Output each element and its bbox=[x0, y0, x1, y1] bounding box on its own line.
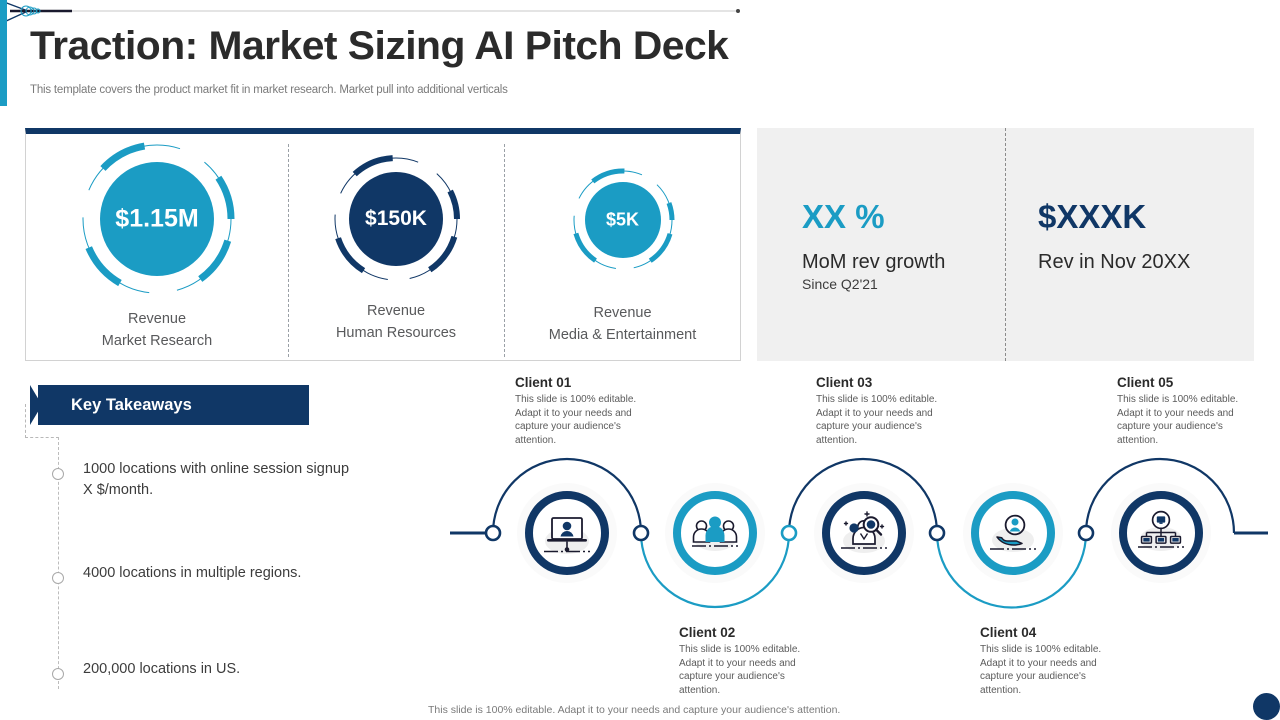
revenue-donut-1: $150K bbox=[329, 152, 463, 286]
client-timeline: Client 01 This slide is 100% editable. A… bbox=[0, 365, 1280, 705]
page-subtitle: This template covers the product market … bbox=[30, 84, 508, 96]
revenue-value-0: $1.15M bbox=[115, 205, 198, 234]
client-body-2: This slide is 100% editable. Adapt it to… bbox=[816, 393, 941, 447]
client-title-3: Client 04 bbox=[980, 625, 1036, 640]
revenue-donut-0: $1.15M bbox=[77, 139, 237, 299]
metric-label-0: MoM rev growth bbox=[802, 251, 945, 274]
metric-value-0: XX % bbox=[802, 198, 945, 236]
revenue-caption-2: Revenue Media & Entertainment bbox=[549, 303, 697, 347]
client-body-3: This slide is 100% editable. Adapt it to… bbox=[980, 643, 1105, 697]
user-search-icon bbox=[836, 508, 892, 558]
people-group-icon bbox=[687, 508, 743, 558]
client-ring-0 bbox=[525, 491, 609, 575]
corner-dot bbox=[1253, 693, 1280, 720]
revenue-item-1: $150K Revenue Human Resources bbox=[288, 134, 504, 360]
revenue-value-2: $5K bbox=[606, 210, 639, 231]
metrics-divider bbox=[1005, 128, 1006, 361]
footer-note: This slide is 100% editable. Adapt it to… bbox=[428, 704, 840, 716]
client-body-1: This slide is 100% editable. Adapt it to… bbox=[679, 643, 804, 697]
metric-1: $XXXK Rev in Nov 20XX bbox=[1038, 198, 1190, 276]
metric-label-1: Rev in Nov 20XX bbox=[1038, 251, 1190, 274]
client-title-1: Client 02 bbox=[679, 625, 735, 640]
client-ring-3 bbox=[971, 491, 1055, 575]
client-body-4: This slide is 100% editable. Adapt it to… bbox=[1117, 393, 1242, 447]
accent-bar bbox=[0, 0, 7, 106]
metric-sublabel-0: Since Q2'21 bbox=[802, 276, 945, 292]
revenue-item-0: $1.15M Revenue Market Research bbox=[26, 134, 288, 360]
revenue-caption-1: Revenue Human Resources bbox=[336, 301, 456, 345]
top-decoration bbox=[0, 0, 1280, 24]
client-ring-1 bbox=[673, 491, 757, 575]
client-title-0: Client 01 bbox=[515, 375, 571, 390]
metric-value-1: $XXXK bbox=[1038, 198, 1190, 236]
page-title: Traction: Market Sizing AI Pitch Deck bbox=[30, 24, 728, 69]
client-title-4: Client 05 bbox=[1117, 375, 1173, 390]
client-ring-2 bbox=[822, 491, 906, 575]
revenue-caption-0: Revenue Market Research bbox=[102, 309, 212, 353]
metrics-panel: XX % MoM rev growth Since Q2'21 $XXXK Re… bbox=[757, 128, 1254, 361]
client-body-0: This slide is 100% editable. Adapt it to… bbox=[515, 393, 640, 447]
client-title-2: Client 03 bbox=[816, 375, 872, 390]
revenue-value-1: $150K bbox=[365, 207, 427, 231]
hand-user-icon bbox=[985, 508, 1041, 558]
revenue-item-2: $5K Revenue Media & Entertainment bbox=[504, 134, 741, 360]
network-hierarchy-icon bbox=[1133, 508, 1189, 558]
metric-0: XX % MoM rev growth Since Q2'21 bbox=[802, 198, 945, 292]
revenue-panel: $1.15M Revenue Market Research $150K Rev… bbox=[25, 128, 741, 361]
client-ring-4 bbox=[1119, 491, 1203, 575]
revenue-donut-2: $5K bbox=[569, 166, 677, 274]
monitor-user-icon bbox=[539, 508, 595, 558]
